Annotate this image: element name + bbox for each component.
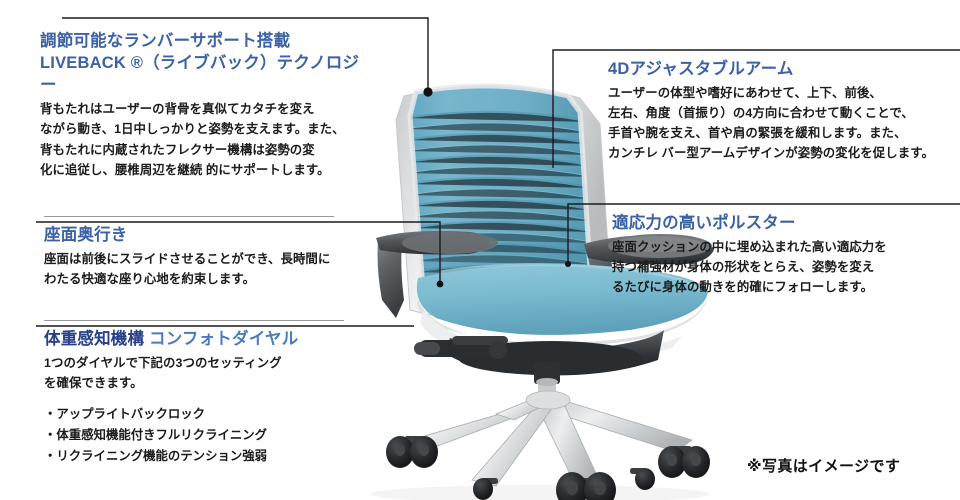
- callout-liveback-heading-line2: LIVEBACK ®（ライブバック）テクノロジー: [40, 54, 359, 94]
- callout-comfort-dial-body-line1: 1つのダイヤルで下記の3つのセッティング: [44, 356, 282, 370]
- callout-bolster-body-line2: 持つ補強材が身体の形状をとらえ、姿勢を変え: [612, 260, 874, 274]
- callout-seat-depth: 座面奥行き 座面は前後にスライドさせることができ、長時間に わたる快適な座り心地…: [44, 216, 334, 289]
- callout-liveback-body-line1: 背もたれはユーザーの背骨を真似てカタチを変え: [40, 102, 315, 116]
- divider-seat-depth: [44, 216, 334, 217]
- callout-liveback-heading: 調節可能なランバーサポート搭載 LIVEBACK ®（ライブバック）テクノロジー: [40, 30, 370, 96]
- callout-comfort-dial-bullets: ・アップライトバックロック ・体重感知機能付きフルリクライニング ・リクライニン…: [44, 404, 344, 466]
- callout-comfort-dial-body: 1つのダイヤルで下記の3つのセッティング を確保できます。: [44, 353, 344, 393]
- callout-seat-depth-heading: 座面奥行き: [44, 224, 334, 246]
- callout-bolster-body: 座面クッションの中に埋め込まれた高い適応力を 持つ補強材が身体の形状をとらえ、姿…: [612, 237, 952, 297]
- list-item: ・リクライニング機能のテンション強弱: [44, 446, 344, 467]
- callout-liveback-heading-line1: 調節可能なランバーサポート搭載: [40, 32, 290, 50]
- callout-liveback-body: 背もたれはユーザーの背骨を真似てカタチを変え ながら動き、1日中しっかりと姿勢を…: [40, 99, 370, 179]
- callout-comfort-dial-heading: 体重感知機構 コンフォトダイヤル: [44, 328, 344, 350]
- callout-bolster: 適応力の高いポルスター 座面クッションの中に埋め込まれた高い適応力を 持つ補強材…: [612, 212, 952, 297]
- list-item: ・アップライトバックロック: [44, 404, 344, 425]
- list-item: ・体重感知機能付きフルリクライニング: [44, 425, 344, 446]
- footer-note: ※写真はイメージです: [747, 455, 900, 476]
- callout-arm-body: ユーザーの体型や嗜好にあわせて、上下、前後、 左右、角度（首振り）の4方向に合わ…: [608, 83, 953, 163]
- callout-seat-depth-body-line1: 座面は前後にスライドさせることができ、長時間に: [44, 252, 330, 266]
- infographic-page: 調節可能なランバーサポート搭載 LIVEBACK ®（ライブバック）テクノロジー…: [0, 0, 960, 500]
- divider-comfort-dial: [44, 320, 344, 321]
- callout-bolster-body-line3: るたびに身体の動きを的確にフォローします。: [612, 280, 873, 294]
- callout-seat-depth-body-line2: わたる快適な座り心地を約束します。: [44, 272, 255, 286]
- callout-liveback-body-line4: 化に追従し、腰椎周辺を継続 的にサポートします。: [40, 163, 330, 177]
- callout-liveback-body-line3: 背もたれに内蔵されたフレクサー機構は姿勢の変: [40, 143, 315, 157]
- callout-comfort-dial: 体重感知機構 コンフォトダイヤル 1つのダイヤルで下記の3つのセッティング を確…: [44, 320, 344, 467]
- callout-liveback-body-line2: ながら動き、1日中しっかりと姿勢を支えます。また、: [40, 122, 345, 136]
- callout-arm-body-line4: カンチレ バー型アームデザインが姿勢の変化を促します。: [608, 146, 934, 160]
- callout-comfort-dial-body-line2: を確保できます。: [44, 376, 143, 390]
- callout-bolster-heading: 適応力の高いポルスター: [612, 212, 952, 234]
- callout-arm: 4Dアジャスタブルアーム ユーザーの体型や嗜好にあわせて、上下、前後、 左右、角…: [608, 58, 953, 163]
- callout-comfort-dial-heading-dark: 体重感知機構: [44, 330, 144, 348]
- callout-arm-heading: 4Dアジャスタブルアーム: [608, 58, 953, 80]
- callout-arm-body-line1: ユーザーの体型や嗜好にあわせて、上下、前後、: [608, 86, 882, 100]
- callout-arm-body-line2: 左右、角度（首振り）の4方向に合わせて動くことで、: [608, 106, 914, 120]
- callout-arm-body-line3: 手首や腕を支え、首や肩の緊張を緩和します。また、: [608, 126, 907, 140]
- callout-bolster-body-line1: 座面クッションの中に埋め込まれた高い適応力を: [612, 240, 887, 254]
- callout-comfort-dial-heading-light: コンフォトダイヤル: [149, 330, 298, 348]
- callout-liveback: 調節可能なランバーサポート搭載 LIVEBACK ®（ライブバック）テクノロジー…: [40, 30, 370, 180]
- callout-seat-depth-body: 座面は前後にスライドさせることができ、長時間に わたる快適な座り心地を約束します…: [44, 249, 334, 289]
